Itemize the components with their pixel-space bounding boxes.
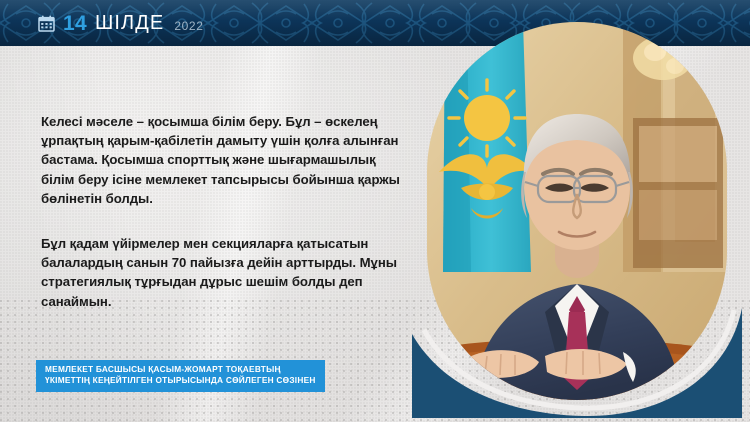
quote-paragraph-2: Бұл қадам үйірмелер мен секцияларға қаты… [41, 234, 401, 311]
attribution-banner: МЕМЛЕКЕТ БАСШЫСЫ ҚАСЫМ-ЖОМАРТ ТОҚАЕВТЫҢ … [36, 360, 325, 392]
date-day: 14 [63, 13, 87, 34]
attribution-line-1: МЕМЛЕКЕТ БАСШЫСЫ ҚАСЫМ-ЖОМАРТ ТОҚАЕВТЫҢ [45, 364, 316, 375]
quote-text-block: Келесі мәселе – қосымша білім беру. Бұл … [41, 112, 401, 311]
quote-card: 14 ШІЛДЕ 2022 Келесі мәселе – қосымша бі… [0, 0, 750, 422]
calendar-icon [38, 15, 55, 32]
portrait-illustration [427, 22, 727, 400]
quote-paragraph-1: Келесі мәселе – қосымша білім беру. Бұл … [41, 112, 401, 208]
attribution-line-2: ҮКІМЕТТІҢ КЕҢЕЙТІЛГЕН ОТЫРЫСЫНДА СӨЙЛЕГЕ… [45, 375, 316, 386]
date-line: 14 ШІЛДЕ 2022 [38, 10, 203, 36]
portrait-photo [427, 22, 727, 400]
date-year: 2022 [174, 20, 203, 32]
date-month: ШІЛДЕ [95, 13, 164, 33]
